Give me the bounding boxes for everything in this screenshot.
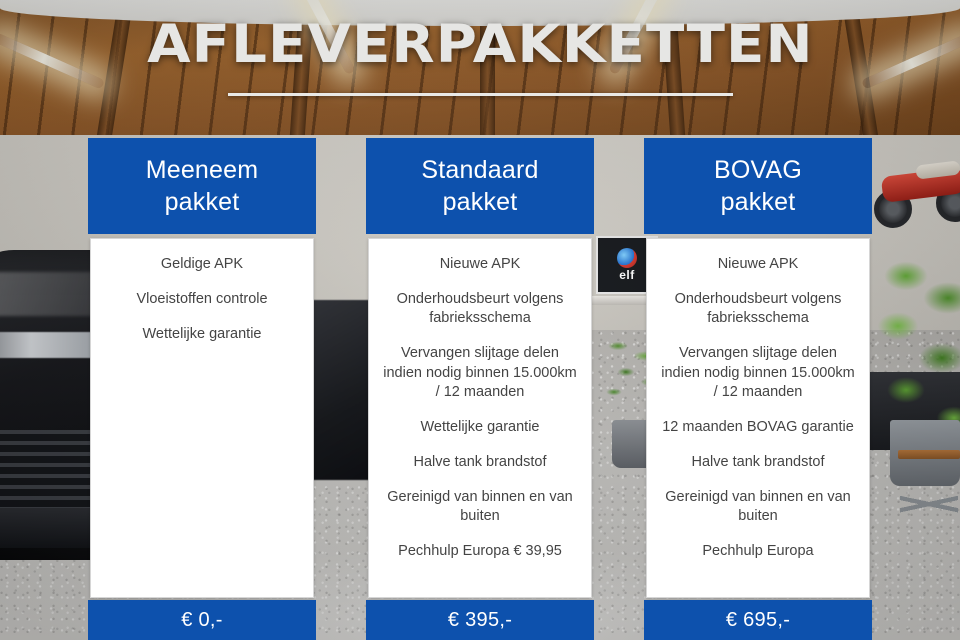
package-name-line1: Meeneem — [146, 156, 259, 184]
feature-item: Vervangen slijtage delen indien nodig bi… — [661, 344, 855, 401]
feature-item: Onderhoudsbeurt volgens fabrieksschema — [383, 290, 577, 328]
pricing-card-list: Meeneem pakket Geldige APK Vloeistoffen … — [0, 138, 960, 640]
feature-item: Wettelijke garantie — [105, 325, 299, 344]
feature-item: Geldige APK — [105, 255, 299, 274]
price-footer-meeneem[interactable]: € 0,- — [88, 600, 316, 640]
feature-item: Gereinigd van binnen en van buiten — [661, 488, 855, 526]
feature-item: Wettelijke garantie — [383, 418, 577, 437]
card-header-meeneem: Meeneem pakket — [88, 138, 316, 234]
pricing-page: elf AFLEVERPAKKETTEN Meeneem pakket — [0, 0, 960, 640]
page-title-wrapper: AFLEVERPAKKETTEN — [0, 18, 960, 71]
feature-item: Halve tank brandstof — [383, 453, 577, 472]
page-title: AFLEVERPAKKETTEN — [147, 18, 813, 71]
card-body-bovag: Nieuwe APK Onderhoudsbeurt volgens fabri… — [646, 238, 870, 598]
package-name-line2: pakket — [721, 188, 796, 216]
feature-item: Halve tank brandstof — [661, 453, 855, 472]
title-underline-rule — [228, 93, 733, 96]
feature-item: Nieuwe APK — [661, 255, 855, 274]
card-header-standaard: Standaard pakket — [366, 138, 594, 234]
feature-item: Nieuwe APK — [383, 255, 577, 274]
feature-item: Vervangen slijtage delen indien nodig bi… — [383, 344, 577, 401]
package-name-line2: pakket — [443, 188, 518, 216]
feature-item: 12 maanden BOVAG garantie — [661, 418, 855, 437]
price-footer-bovag[interactable]: € 695,- — [644, 600, 872, 640]
feature-item: Pechhulp Europa — [661, 542, 855, 561]
package-name-line2: pakket — [165, 188, 240, 216]
package-name-line1: Standaard — [421, 156, 538, 184]
card-body-meeneem: Geldige APK Vloeistoffen controle Wettel… — [90, 238, 314, 598]
price-footer-standaard[interactable]: € 395,- — [366, 600, 594, 640]
pricing-card-bovag[interactable]: BOVAG pakket Nieuwe APK Onderhoudsbeurt … — [644, 138, 872, 640]
feature-item: Pechhulp Europa € 39,95 — [383, 542, 577, 561]
feature-item: Gereinigd van binnen en van buiten — [383, 488, 577, 526]
pricing-card-meeneem[interactable]: Meeneem pakket Geldige APK Vloeistoffen … — [88, 138, 316, 640]
card-body-standaard: Nieuwe APK Onderhoudsbeurt volgens fabri… — [368, 238, 592, 598]
feature-item: Onderhoudsbeurt volgens fabrieksschema — [661, 290, 855, 328]
pricing-card-standaard[interactable]: Standaard pakket Nieuwe APK Onderhoudsbe… — [366, 138, 594, 640]
package-name-line1: BOVAG — [714, 156, 802, 184]
card-header-bovag: BOVAG pakket — [644, 138, 872, 234]
feature-item: Vloeistoffen controle — [105, 290, 299, 309]
